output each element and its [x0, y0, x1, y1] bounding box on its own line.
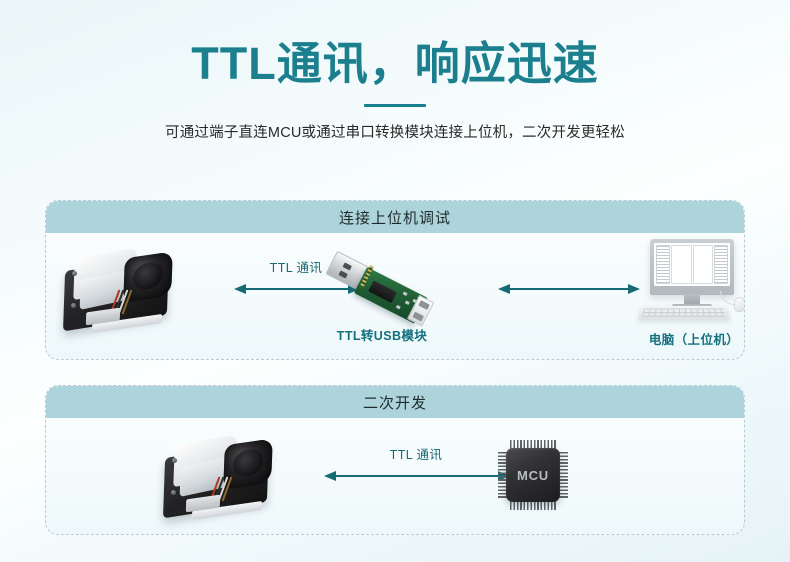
node-dust-sensor-module-1 [58, 245, 180, 331]
screen-panel-right [714, 245, 728, 284]
screen-panel-left [656, 245, 670, 284]
panel-2-header-title: 二次开发 [363, 392, 427, 413]
host-computer-image [634, 239, 745, 325]
ttl-to-usb-module-image [328, 239, 436, 327]
title-divider [364, 104, 426, 107]
sensor-screw [172, 458, 177, 463]
panel-2-header: 二次开发 [46, 386, 744, 418]
usb-ic-chip [368, 281, 397, 303]
panel-1-header: 连接上位机调试 [46, 201, 744, 233]
arrow-sensor-to-mcu [324, 468, 510, 484]
screen-panel-center [671, 245, 692, 284]
node-host-computer: 电脑（上位机） [634, 239, 745, 348]
usb-pin-header [407, 295, 434, 327]
dust-sensor-module-image-2 [158, 432, 280, 518]
monitor [650, 239, 734, 295]
mouse [734, 297, 745, 312]
node-dust-sensor-module-2 [158, 432, 280, 518]
caption-host-computer: 电脑（上位机） [634, 329, 745, 348]
panel-secondary-development: 二次开发 TTL 通讯 [45, 385, 745, 535]
monitor-screen [654, 243, 730, 286]
mcu-chip-body: MCU [506, 448, 560, 502]
panel-1-body: TTL 通讯 [46, 233, 744, 359]
panel-1-header-title: 连接上位机调试 [339, 207, 451, 228]
page-header: TTL通讯，响应迅速 可通过端子直连MCU或通过串口转换模块连接上位机，二次开发… [0, 0, 790, 142]
keyboard [638, 306, 730, 320]
panel-connect-host-debug: 连接上位机调试 TTL 通讯 [45, 200, 745, 360]
panel-2-body: TTL 通讯 MCU [46, 418, 744, 534]
sensor-screw [72, 271, 77, 276]
page-subtitle: 可通过端子直连MCU或通过串口转换模块连接上位机，二次开发更轻松 [0, 121, 790, 142]
page-title: TTL通讯，响应迅速 [0, 36, 790, 92]
usb-stick-assembly [321, 247, 432, 330]
mcu-chip-image: MCU [496, 438, 570, 512]
sensor-screw [171, 490, 176, 495]
caption-ttl-to-usb-module: TTL转USB模块 [328, 325, 436, 344]
mcu-chip-label: MCU [517, 468, 549, 483]
node-ttl-to-usb-module: TTL转USB模块 [328, 239, 436, 344]
dust-sensor-module-image-1 [58, 245, 180, 331]
arrow-label-ttl-comm-2: TTL 通讯 [346, 444, 486, 463]
node-mcu-chip: MCU [496, 438, 570, 512]
screen-panel-center2 [693, 245, 714, 284]
arrow-usb-to-computer [498, 281, 640, 297]
sensor-screw [71, 303, 76, 308]
